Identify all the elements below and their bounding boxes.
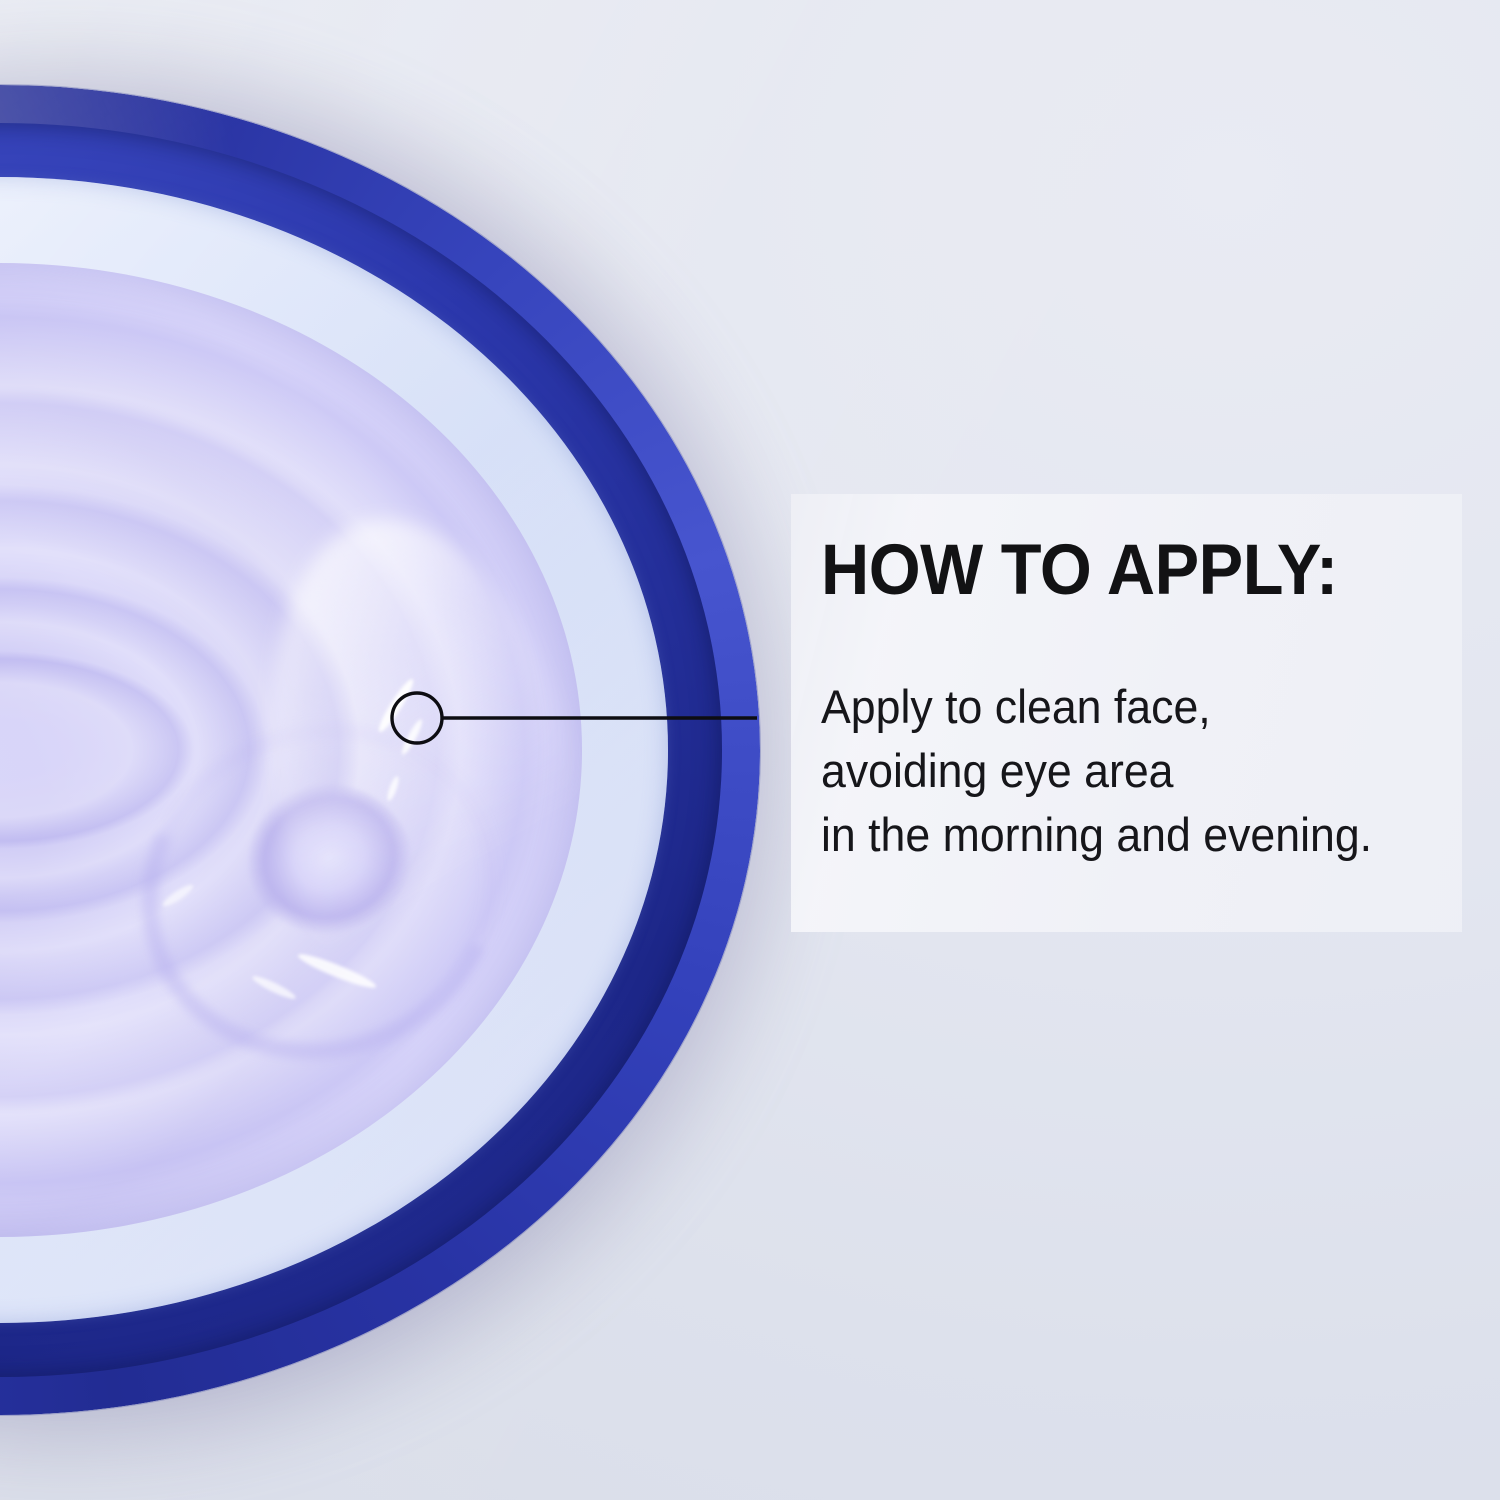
product-instruction-graphic: HOW TO APPLY: Apply to clean face, avoid… (0, 0, 1500, 1500)
page-title: HOW TO APPLY: (821, 535, 1338, 606)
instruction-text: Apply to clean face, avoiding eye area i… (821, 675, 1372, 867)
how-to-apply-card: HOW TO APPLY: Apply to clean face, avoid… (791, 494, 1462, 932)
